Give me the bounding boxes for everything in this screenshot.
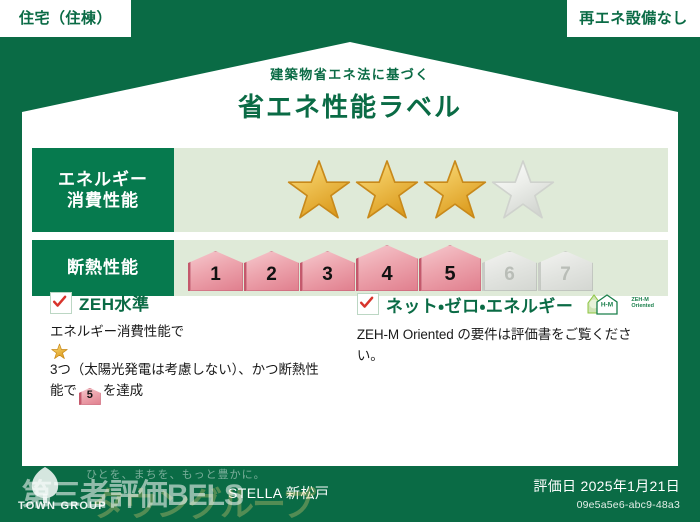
note-net-zero-energy-header: ネット・ゼロ・エネルギー H-M ZEH-M Oriented bbox=[357, 290, 654, 318]
star-rating bbox=[286, 157, 556, 223]
note-text-part3: を達成 bbox=[103, 383, 143, 398]
note-zeh-standard: ZEH水準 エネルギー消費性能で3つ（太陽光発電は考慮しない）、かつ断熱性能で5… bbox=[32, 290, 343, 456]
zeh-m-house-logo-icon: H-M bbox=[584, 290, 630, 318]
renewable-energy-tab: 再エネ設備なし bbox=[567, 0, 700, 37]
metric-rows: エネルギー 消費性能 bbox=[32, 148, 668, 296]
star-icon-filled-1 bbox=[286, 157, 352, 223]
note-net-zero-energy: ネット・ゼロ・エネルギー H-M ZEH-M Oriented bbox=[343, 290, 668, 456]
title-main: 省エネ性能ラベル bbox=[22, 87, 678, 124]
zeh-logo-caption-line2: Oriented bbox=[631, 304, 654, 310]
row-energy-label: エネルギー 消費性能 bbox=[32, 148, 174, 232]
note-zeh-standard-title: ZEH水準 bbox=[79, 290, 150, 315]
row-energy-label-line2: 消費性能 bbox=[67, 190, 139, 211]
checkbox-checked-icon bbox=[50, 292, 72, 314]
building-type-tab: 住宅（住棟） bbox=[0, 0, 131, 37]
check-icon bbox=[359, 295, 374, 310]
star-icon-empty-4 bbox=[490, 157, 556, 223]
check-icon bbox=[52, 294, 67, 309]
renewable-energy-tab-label: 再エネ設備なし bbox=[579, 11, 688, 26]
note-net-zero-energy-text: ZEH-M Oriented の要件は評価書をご覧ください。 bbox=[357, 325, 654, 367]
house-panel: 建築物省エネ法に基づく 省エネ性能ラベル エネルギー 消費性能 bbox=[22, 42, 678, 466]
notes-section: ZEH水準 エネルギー消費性能で3つ（太陽光発電は考慮しない）、かつ断熱性能で5… bbox=[32, 280, 668, 456]
zeh-m-oriented-logo: H-M ZEH-M Oriented bbox=[584, 290, 654, 318]
star-icon-inline bbox=[51, 343, 68, 360]
row-insulation-label-line1: 断熱性能 bbox=[67, 257, 139, 278]
house-content: 建築物省エネ法に基づく 省エネ性能ラベル エネルギー 消費性能 bbox=[22, 42, 678, 466]
note-zeh-standard-header: ZEH水準 bbox=[50, 290, 329, 315]
row-energy-label-line1: エネルギー bbox=[58, 169, 148, 190]
star-icon-filled-3 bbox=[422, 157, 488, 223]
insulation-badge-inline-label: 5 bbox=[87, 387, 93, 404]
row-energy-performance: エネルギー 消費性能 bbox=[32, 148, 668, 232]
page-title: 建築物省エネ法に基づく 省エネ性能ラベル bbox=[22, 64, 678, 124]
star-icon-filled-2 bbox=[354, 157, 420, 223]
energy-label-root: 住宅（住棟） 再エネ設備なし 建築物省エネ法に基づく 省エネ性能ラベル エネルギ… bbox=[0, 0, 700, 522]
checkbox-checked-icon bbox=[357, 293, 379, 315]
project-name: STELLA 新松戸 bbox=[228, 483, 329, 503]
footer-bar: STELLA 新松戸 評価日 2025年1月21日 09e5a5e6-abc9-… bbox=[0, 466, 700, 522]
row-energy-body bbox=[174, 148, 668, 232]
note-text-part1: エネルギー消費性能で bbox=[50, 324, 184, 339]
note-zeh-standard-text: エネルギー消費性能で3つ（太陽光発電は考慮しない）、かつ断熱性能で5を達成 bbox=[50, 322, 329, 405]
insulation-badge-inline: 5 bbox=[79, 388, 101, 405]
evaluation-date: 評価日 2025年1月21日 bbox=[533, 476, 680, 496]
building-type-tab-label: 住宅（住棟） bbox=[19, 11, 112, 26]
note-net-zero-energy-title: ネット・ゼロ・エネルギー bbox=[386, 292, 574, 317]
evaluation-id: 09e5a5e6-abc9-48a3 bbox=[533, 499, 680, 511]
svg-text:H-M: H-M bbox=[601, 302, 613, 309]
title-subtitle: 建築物省エネ法に基づく bbox=[22, 64, 678, 83]
footer-eval-info: 評価日 2025年1月21日 09e5a5e6-abc9-48a3 bbox=[533, 476, 680, 511]
